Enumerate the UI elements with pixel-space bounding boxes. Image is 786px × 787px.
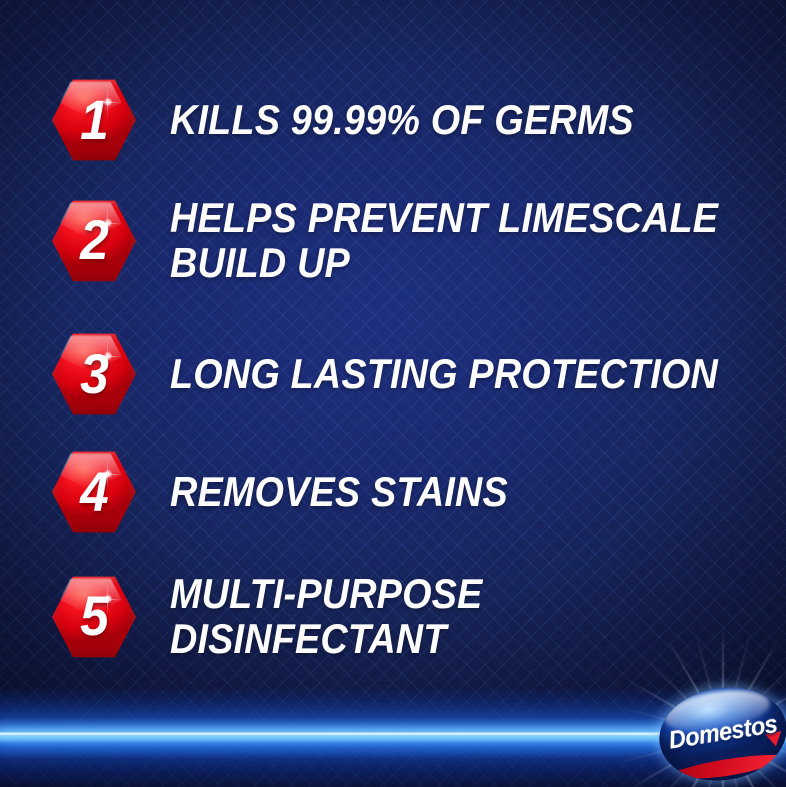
benefit-number: 5 — [55, 575, 132, 659]
benefit-badge-4: 4 — [52, 450, 136, 534]
benefit-label: LONG LASTING PROTECTION — [170, 352, 718, 397]
promo-poster: 1KILLS 99.99% OF GERMS2HELPS PREVENT LIM… — [0, 0, 786, 787]
benefit-badge-2: 2 — [52, 199, 136, 283]
benefit-badge-3: 3 — [52, 332, 136, 416]
benefit-label: HELPS PREVENT LIMESCALE BUILD UP — [170, 196, 718, 286]
benefit-badge-1: 1 — [52, 78, 136, 162]
benefit-number: 3 — [55, 332, 132, 416]
benefit-label: REMOVES STAINS — [170, 470, 508, 515]
benefit-row: 2HELPS PREVENT LIMESCALE BUILD UP — [52, 196, 779, 286]
benefit-badge-5: 5 — [52, 575, 136, 659]
benefit-row: 1KILLS 99.99% OF GERMS — [52, 78, 685, 162]
benefit-row: 3LONG LASTING PROTECTION — [52, 332, 779, 416]
benefit-number: 4 — [55, 450, 132, 534]
benefit-number: 1 — [55, 78, 132, 162]
benefit-number: 2 — [55, 199, 132, 283]
benefit-label: KILLS 99.99% OF GERMS — [170, 98, 634, 143]
domestos-logo: Domestos — [648, 678, 786, 787]
benefit-row: 4REMOVES STAINS — [52, 450, 545, 534]
